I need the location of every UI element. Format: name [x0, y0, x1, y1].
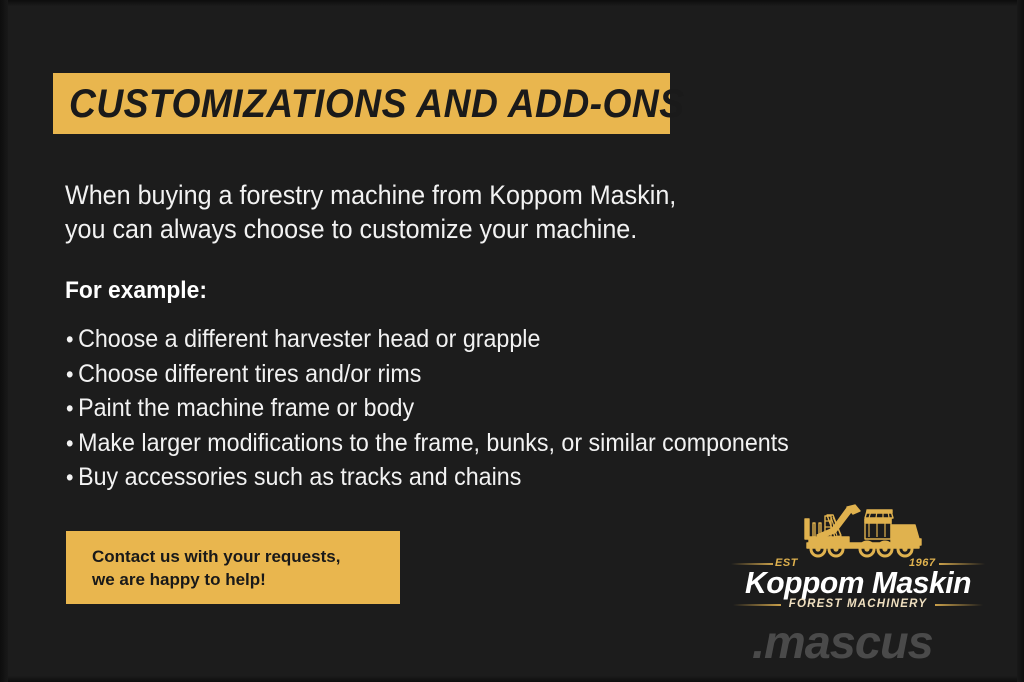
logo-subtitle-rule-right — [935, 604, 983, 606]
contact-cta-box[interactable]: Contact us with your requests, we are ha… — [66, 531, 400, 604]
intro-line-2: you can always choose to customize your … — [65, 212, 772, 246]
edge-shade-bottom — [0, 676, 1024, 682]
logo-subtitle-row: FOREST MACHINERY — [727, 597, 989, 611]
contact-line-2: we are happy to help! — [92, 568, 400, 591]
logo-brand-name: Koppom Maskin — [731, 566, 985, 600]
koppom-maskin-logo: EST 1967 Koppom Maskin FOREST MACHINERY — [727, 503, 989, 611]
list-item: Choose a different harvester head or gra… — [66, 322, 810, 357]
intro-line-1: When buying a forestry machine from Kopp… — [65, 178, 772, 212]
forwarder-machine-icon — [787, 503, 937, 559]
list-item: Paint the machine frame or body — [66, 391, 810, 426]
list-item: Choose different tires and/or rims — [66, 357, 810, 392]
edge-shade-left — [0, 0, 8, 682]
intro-paragraph: When buying a forestry machine from Kopp… — [65, 178, 772, 246]
page-title: CUSTOMIZATIONS AND ADD-ONS — [69, 84, 685, 124]
example-bullet-list: Choose a different harvester head or gra… — [66, 322, 810, 495]
contact-line-1: Contact us with your requests, — [92, 545, 400, 568]
list-item: Buy accessories such as tracks and chain… — [66, 460, 810, 495]
edge-shade-top — [0, 0, 1024, 6]
title-banner: CUSTOMIZATIONS AND ADD-ONS — [53, 73, 670, 134]
edge-shade-right — [1017, 0, 1024, 682]
example-heading: For example: — [65, 276, 207, 306]
presentation-slide: CUSTOMIZATIONS AND ADD-ONS When buying a… — [0, 0, 1024, 682]
list-item: Make larger modifications to the frame, … — [66, 426, 810, 461]
mascus-watermark: .mascus — [752, 617, 933, 667]
